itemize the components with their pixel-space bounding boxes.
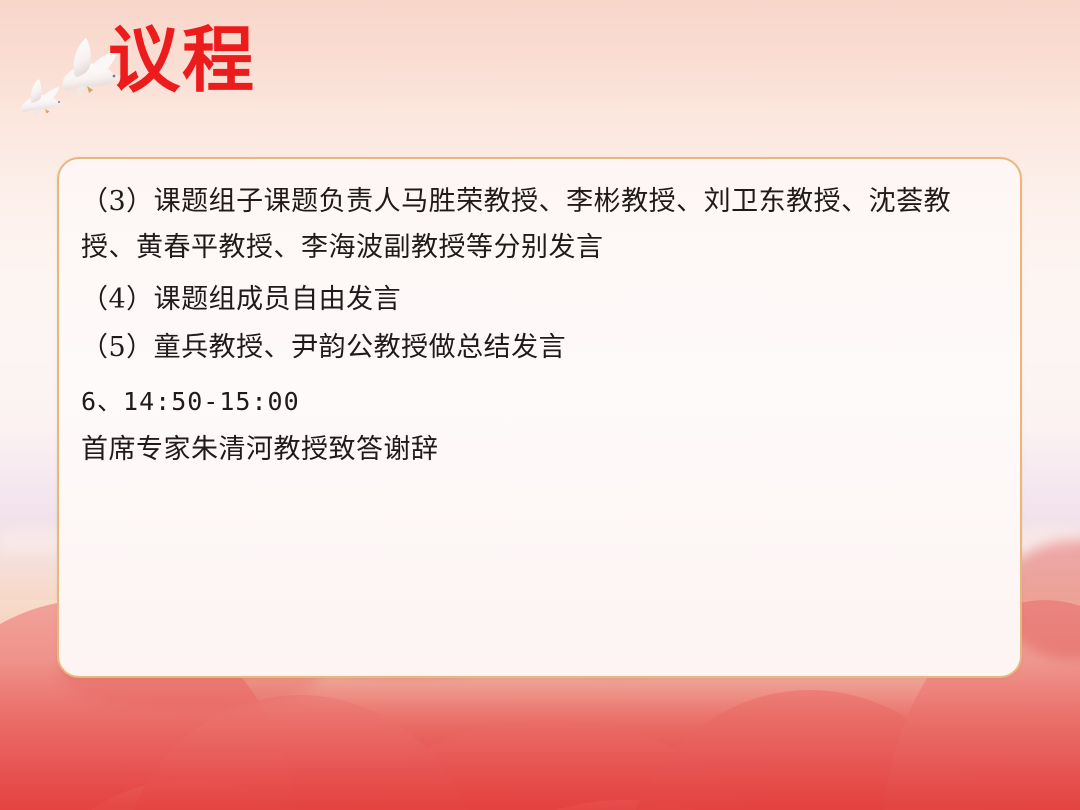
page-title: 议程 [108,24,256,96]
agenda-item-6-time: 6、14:50-15:00 [81,379,998,425]
background-bottom-glow [0,660,1080,810]
slide-agenda: 议程 （3）课题组子课题负责人马胜荣教授、李彬教授、刘卫东教授、沈荟教授、黄春平… [0,0,1080,810]
dove-small [21,79,65,117]
agenda-item-5: （5）童兵教授、尹韵公教授做总结发言 [81,325,998,371]
agenda-content-card: （3）课题组子课题负责人马胜荣教授、李彬教授、刘卫东教授、沈荟教授、黄春平教授、… [57,157,1022,678]
agenda-item-3: （3）课题组子课题负责人马胜荣教授、李彬教授、刘卫东教授、沈荟教授、黄春平教授、… [81,179,998,271]
agenda-item-4: （4）课题组成员自由发言 [81,277,998,323]
agenda-item-6-description: 首席专家朱清河教授致答谢辞 [81,427,998,473]
